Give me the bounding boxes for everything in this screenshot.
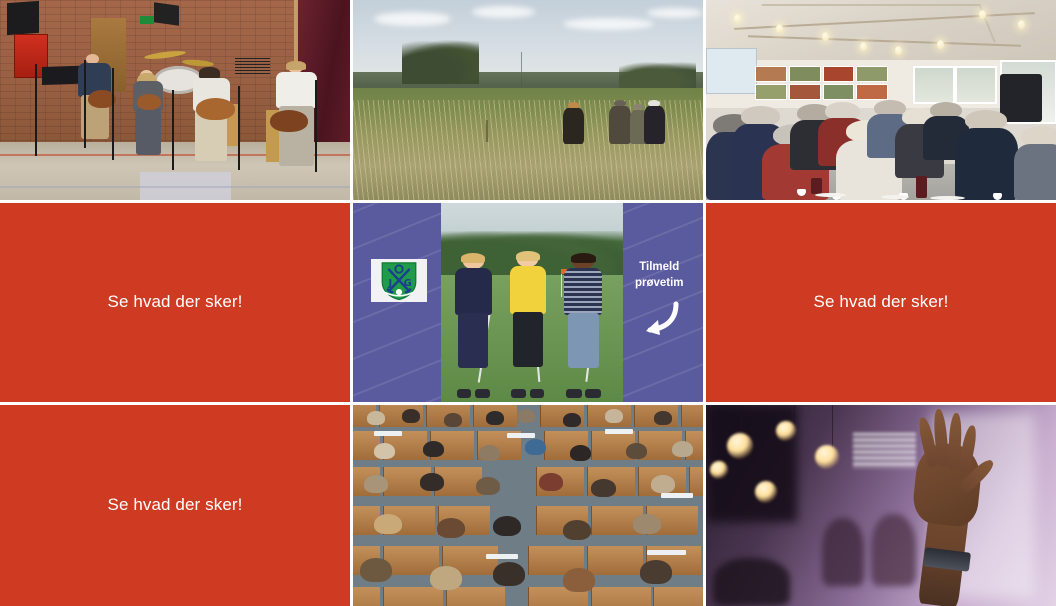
music-stand [235, 58, 270, 76]
cta-label: Se hvad der sker! [108, 495, 243, 515]
cta-tile-right[interactable]: Se hvad der sker! [706, 203, 1056, 402]
walker [563, 102, 584, 144]
cta-label: Se hvad der sker! [814, 292, 949, 312]
loudspeaker [7, 1, 39, 35]
cta-tile-left[interactable]: Se hvad der sker! [0, 203, 350, 402]
promo-cta-block: Tilmeld prøvetim [619, 259, 700, 338]
window [955, 66, 998, 104]
guitar [196, 98, 235, 120]
raised-hand [899, 413, 1004, 606]
guitar [137, 94, 162, 110]
walker [644, 100, 665, 144]
golf-club-crest-logo: J G [371, 259, 427, 303]
cta-label: Se hvad der sker! [108, 292, 243, 312]
golf-photo [441, 203, 623, 402]
exit-sign-icon [140, 16, 154, 24]
window [913, 66, 956, 104]
raised-hand-photo[interactable] [706, 405, 1056, 606]
promo-headline-line1: Tilmeld [619, 259, 700, 276]
projector-screen [706, 48, 757, 94]
young-golfer [451, 255, 495, 398]
nature-walk-photo[interactable] [353, 0, 703, 200]
young-golfer [506, 253, 550, 398]
svg-text:G: G [403, 278, 411, 289]
golf-club-promo[interactable]: J G Tilmeld prøvetim [353, 203, 703, 402]
lecture-hall-photo[interactable] [353, 405, 703, 606]
svg-text:J: J [387, 278, 392, 289]
walker [609, 100, 632, 144]
artwork-wall [755, 66, 888, 100]
young-golfer [561, 255, 607, 398]
event-tile-grid: Se hvad der sker! [0, 0, 1056, 606]
curved-arrow-down-left-icon [619, 300, 700, 338]
loudspeaker [154, 2, 179, 25]
music-rehearsal-photo[interactable] [0, 0, 350, 200]
guitar [270, 110, 309, 132]
community-gathering-photo[interactable] [706, 0, 1056, 200]
cta-tile-bottom[interactable]: Se hvad der sker! [0, 405, 350, 606]
promo-headline-line2: prøvetim [619, 275, 700, 292]
